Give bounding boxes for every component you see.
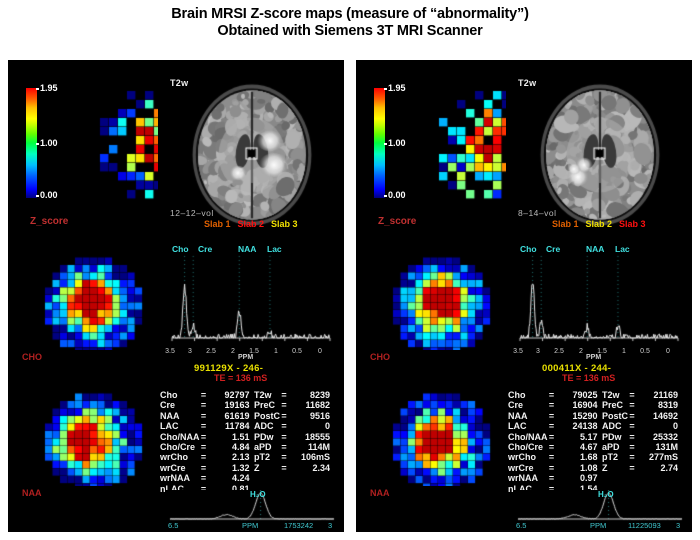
metric-value: 18555 xyxy=(288,432,330,442)
metric-key: wrCre xyxy=(160,463,200,473)
zscore-colorbar-right: 1.95 1.00 0.00 Z_score xyxy=(368,82,434,222)
peak-label-lac: Lac xyxy=(615,244,630,254)
peak-label-cre: Cre xyxy=(546,244,560,254)
metrics-row: Cho/Cre=4.67 xyxy=(508,442,598,452)
colorbar-tick-mid: 1.00 xyxy=(388,138,406,148)
metric-value: 11682 xyxy=(288,400,330,410)
cho-map-left xyxy=(30,250,150,350)
metrics-table-left-col2: T2w=8239PreC=11682PostC=9516ADC=0PDw=185… xyxy=(254,390,330,473)
study-te-left: TE = 136 mS xyxy=(214,373,267,383)
metrics-row: T2w=8239 xyxy=(254,390,330,400)
metric-key: T2w xyxy=(254,390,280,400)
metric-equals: = xyxy=(548,442,556,452)
metric-key: wrCre xyxy=(508,463,548,473)
metrics-row: LAC=11784 xyxy=(160,421,250,431)
metric-key: Cho xyxy=(508,390,548,400)
metrics-row: Z=2.74 xyxy=(602,463,678,473)
metric-equals: = xyxy=(628,452,636,462)
colorbar-tick-mid: 1.00 xyxy=(40,138,58,148)
t2w-label: T2w xyxy=(170,78,188,88)
metric-value: 1.51 xyxy=(208,432,250,442)
metric-key: Cho/NAA xyxy=(160,432,200,442)
metric-equals: = xyxy=(200,442,208,452)
title-line-2: Obtained with Siemens 3T MRI Scanner xyxy=(0,23,700,40)
mrsi-figure: Brain MRSI Z-score maps (measure of “abn… xyxy=(0,0,700,540)
water-tick-left: 6.5 xyxy=(516,521,526,530)
metric-key: Cre xyxy=(508,400,548,410)
metric-value: 16904 xyxy=(556,400,598,410)
metrics-row: wrCre=1.08 xyxy=(508,463,598,473)
slab-2-label: Slab 2 xyxy=(586,219,613,229)
metric-key: wrNAA xyxy=(160,473,200,483)
metric-equals: = xyxy=(548,421,556,431)
metric-value: 9516 xyxy=(288,411,330,421)
slab-legend-right: Slab 1Slab 2Slab 3 xyxy=(552,219,653,229)
metric-value: 14692 xyxy=(636,411,678,421)
metrics-row: pT2=106mS xyxy=(254,452,330,462)
water-integral-value: 1753242 xyxy=(284,521,313,530)
metric-equals: = xyxy=(200,452,208,462)
metric-value: 11784 xyxy=(208,421,250,431)
metric-key: pT2 xyxy=(254,452,280,462)
metric-value: 24138 xyxy=(556,421,598,431)
study-te-right: TE = 136 mS xyxy=(562,373,615,383)
t2w-volume-label: 8–14–vol xyxy=(518,208,557,218)
metrics-row: pT2=277mS xyxy=(602,452,678,462)
metric-equals: = xyxy=(200,411,208,421)
slab-1-label: Slab 1 xyxy=(552,219,579,229)
metric-key: NAA xyxy=(160,411,200,421)
metrics-row: PreC=8319 xyxy=(602,400,678,410)
metric-equals: = xyxy=(280,390,288,400)
metric-equals: = xyxy=(280,452,288,462)
cho-map-label: CHO xyxy=(22,352,42,362)
h2o-label: H₂O xyxy=(598,490,614,499)
metrics-row: NAA=15290 xyxy=(508,411,598,421)
metric-value: 0 xyxy=(636,421,678,431)
metric-key: LAC xyxy=(160,421,200,431)
water-integral-value: 11225093 xyxy=(628,521,661,530)
metric-key: Cho/Cre xyxy=(160,442,200,452)
metric-equals: = xyxy=(628,421,636,431)
case-panel-left: 1.95 1.00 0.00 Z_score T2w 12–12–vol Sla… xyxy=(8,60,344,532)
metrics-row: Z=2.34 xyxy=(254,463,330,473)
metric-equals: = xyxy=(280,432,288,442)
case-panel-right: 1.95 1.00 0.00 Z_score T2w 8–14–vol Slab… xyxy=(356,60,692,532)
metrics-row: PDw=18555 xyxy=(254,432,330,442)
metric-value: 1.32 xyxy=(208,463,250,473)
ppm-tick-5: 1 xyxy=(616,348,632,355)
metric-value: 15290 xyxy=(556,411,598,421)
metric-value: 61619 xyxy=(208,411,250,421)
metric-equals: = xyxy=(548,473,556,483)
ppm-tick-5: 1 xyxy=(268,348,284,355)
ppm-tick-6: 0.5 xyxy=(289,348,305,355)
metric-key: PreC xyxy=(602,400,628,410)
water-tick-left: 6.5 xyxy=(168,521,178,530)
ppm-tick-7: 0 xyxy=(660,348,676,355)
metrics-row: wrNAA=0.97 xyxy=(508,473,598,483)
peak-label-naa: NAA xyxy=(586,244,604,254)
ppm-tick-0: 3.5 xyxy=(162,348,178,355)
ppm-axis-name: PPM xyxy=(586,354,601,361)
metric-value: 1.08 xyxy=(556,463,598,473)
ppm-tick-1: 3 xyxy=(530,348,546,355)
metric-key: PDw xyxy=(254,432,280,442)
ppm-tick-2: 2.5 xyxy=(551,348,567,355)
spectrum-plot-left: Cho Cre NAA Lac 3.5 3 2.5 2 1.5 1 0.5 0 … xyxy=(166,242,338,360)
metric-equals: = xyxy=(548,432,556,442)
h2o-label: H₂O xyxy=(250,490,266,499)
metric-key: Cho/NAA xyxy=(508,432,548,442)
figure-title: Brain MRSI Z-score maps (measure of “abn… xyxy=(0,6,700,40)
metrics-row: T2w=21169 xyxy=(602,390,678,400)
slab-1-label: Slab 1 xyxy=(204,219,231,229)
metric-key: pT2 xyxy=(602,452,628,462)
metric-value: 2.34 xyxy=(288,463,330,473)
metric-key: wrNAA xyxy=(508,473,548,483)
metric-value: 2.13 xyxy=(208,452,250,462)
metric-value: 4.67 xyxy=(556,442,598,452)
metric-value: 106mS xyxy=(288,452,330,462)
metric-equals: = xyxy=(628,390,636,400)
metric-key: T2w xyxy=(602,390,628,400)
slab-3-label: Slab 3 xyxy=(619,219,646,229)
metric-equals: = xyxy=(280,411,288,421)
metric-equals: = xyxy=(200,432,208,442)
metric-value: 0.97 xyxy=(556,473,598,483)
metric-value: 1.68 xyxy=(556,452,598,462)
metrics-table-right-col2: T2w=21169PreC=8319PostC=14692ADC=0PDw=25… xyxy=(602,390,678,473)
colorbar-tick-min: 0.00 xyxy=(40,190,58,200)
cho-map-label: CHO xyxy=(370,352,390,362)
metrics-row: Cho=92797 xyxy=(160,390,250,400)
metric-value: 277mS xyxy=(636,452,678,462)
metric-equals: = xyxy=(280,442,288,452)
zscore-colorbar-left: 1.95 1.00 0.00 Z_score xyxy=(20,82,86,222)
metric-key: PreC xyxy=(254,400,280,410)
t2w-slice-left: T2w 12–12–vol xyxy=(158,68,338,243)
ppm-axis-name: PPM xyxy=(238,354,253,361)
metric-equals: = xyxy=(200,390,208,400)
ppm-tick-0: 3.5 xyxy=(510,348,526,355)
water-spectrum-left: H₂O 6.5 PPM 1753242 3 xyxy=(166,490,338,530)
metric-equals: = xyxy=(628,400,636,410)
metric-equals: = xyxy=(280,400,288,410)
ppm-tick-7: 0 xyxy=(312,348,328,355)
metrics-row: Cho/NAA=5.17 xyxy=(508,432,598,442)
metric-value: 131M xyxy=(636,442,678,452)
zscore-caption: Z_score xyxy=(30,216,68,227)
metric-value: 25332 xyxy=(636,432,678,442)
metric-key: aPD xyxy=(254,442,280,452)
metric-key: PDw xyxy=(602,432,628,442)
metrics-row: PDw=25332 xyxy=(602,432,678,442)
water-axis-name: PPM xyxy=(242,521,258,530)
metrics-row: NAA=61619 xyxy=(160,411,250,421)
ppm-tick-1: 3 xyxy=(182,348,198,355)
metric-value: 4.24 xyxy=(208,473,250,483)
water-axis-name: PPM xyxy=(590,521,606,530)
naa-map-right xyxy=(378,386,498,486)
slab-legend-left: Slab 1Slab 2Slab 3 xyxy=(204,219,305,229)
metrics-row: Cre=16904 xyxy=(508,400,598,410)
metric-equals: = xyxy=(280,463,288,473)
metric-key: NAA xyxy=(508,411,548,421)
metric-key: Z xyxy=(254,463,280,473)
metric-key: LAC xyxy=(508,421,548,431)
naa-map-label: NAA xyxy=(370,488,390,498)
title-line-1: Brain MRSI Z-score maps (measure of “abn… xyxy=(0,6,700,23)
peak-label-cho: Cho xyxy=(520,244,537,254)
slab-3-label: Slab 3 xyxy=(271,219,298,229)
naa-map-left xyxy=(30,386,150,486)
metric-key: wrCho xyxy=(508,452,548,462)
slab-2-label: Slab 2 xyxy=(238,219,265,229)
metrics-table: T2w=8239PreC=11682PostC=9516ADC=0PDw=185… xyxy=(254,390,330,473)
metrics-row: wrCre=1.32 xyxy=(160,463,250,473)
naa-map-label: NAA xyxy=(22,488,42,498)
metric-key: PostC xyxy=(254,411,280,421)
metrics-row: wrCho=1.68 xyxy=(508,452,598,462)
metrics-row: Cre=19163 xyxy=(160,400,250,410)
metric-value: 8239 xyxy=(288,390,330,400)
colorbar-tick-min: 0.00 xyxy=(388,190,406,200)
metrics-row: ADC=0 xyxy=(254,421,330,431)
metrics-row: PreC=11682 xyxy=(254,400,330,410)
metric-value: 5.17 xyxy=(556,432,598,442)
metric-key: ADC xyxy=(602,421,628,431)
colorbar-tick-max: 1.95 xyxy=(40,83,58,93)
ppm-tick-6: 0.5 xyxy=(637,348,653,355)
metric-equals: = xyxy=(548,400,556,410)
metric-key: Cho xyxy=(160,390,200,400)
peak-label-naa: NAA xyxy=(238,244,256,254)
metric-key: Cre xyxy=(160,400,200,410)
metric-value: 2.74 xyxy=(636,463,678,473)
peak-label-lac: Lac xyxy=(267,244,282,254)
metric-key: ADC xyxy=(254,421,280,431)
metrics-table-right-col1: Cho=79025Cre=16904NAA=15290LAC=24138Cho/… xyxy=(508,390,598,494)
metric-key: aPD xyxy=(602,442,628,452)
metric-value: 79025 xyxy=(556,390,598,400)
spectrum-plot-right: Cho Cre NAA Lac 3.5 3 2.5 2 1.5 1 0.5 0 … xyxy=(514,242,686,360)
metrics-row: LAC=24138 xyxy=(508,421,598,431)
t2w-slice-right: T2w 8–14–vol xyxy=(506,68,686,243)
metric-equals: = xyxy=(628,411,636,421)
metrics-row: Cho/NAA=1.51 xyxy=(160,432,250,442)
metrics-row: PostC=9516 xyxy=(254,411,330,421)
metrics-table: Cho=79025Cre=16904NAA=15290LAC=24138Cho/… xyxy=(508,390,598,494)
metrics-table-left-col1: Cho=92797Cre=19163NAA=61619LAC=11784Cho/… xyxy=(160,390,250,494)
metric-value: 8319 xyxy=(636,400,678,410)
metric-key: Z xyxy=(602,463,628,473)
ppm-tick-2: 2.5 xyxy=(203,348,219,355)
metric-equals: = xyxy=(628,463,636,473)
metric-equals: = xyxy=(280,421,288,431)
metrics-table: T2w=21169PreC=8319PostC=14692ADC=0PDw=25… xyxy=(602,390,678,473)
metric-equals: = xyxy=(628,442,636,452)
metric-equals: = xyxy=(548,463,556,473)
metrics-row: Cho/Cre=4.84 xyxy=(160,442,250,452)
metrics-table: Cho=92797Cre=19163NAA=61619LAC=11784Cho/… xyxy=(160,390,250,494)
water-spectrum-right: H₂O 6.5 PPM 11225093 3 xyxy=(514,490,686,530)
metric-equals: = xyxy=(200,400,208,410)
water-tick-right: 3 xyxy=(676,521,680,530)
metric-equals: = xyxy=(200,473,208,483)
metric-key: PostC xyxy=(602,411,628,421)
metric-value: 19163 xyxy=(208,400,250,410)
metric-value: 4.84 xyxy=(208,442,250,452)
cho-map-right xyxy=(378,250,498,350)
peak-label-cho: Cho xyxy=(172,244,189,254)
metrics-row: aPD=131M xyxy=(602,442,678,452)
metrics-row: wrNAA=4.24 xyxy=(160,473,250,483)
metrics-row: wrCho=2.13 xyxy=(160,452,250,462)
metric-equals: = xyxy=(548,411,556,421)
metric-equals: = xyxy=(628,432,636,442)
metrics-row: aPD=114M xyxy=(254,442,330,452)
metrics-row: ADC=0 xyxy=(602,421,678,431)
metric-key: Cho/Cre xyxy=(508,442,548,452)
water-tick-right: 3 xyxy=(328,521,332,530)
metric-value: 0 xyxy=(288,421,330,431)
t2w-volume-label: 12–12–vol xyxy=(170,208,214,218)
t2w-label: T2w xyxy=(518,78,536,88)
metric-key: wrCho xyxy=(160,452,200,462)
metric-equals: = xyxy=(548,390,556,400)
metric-equals: = xyxy=(200,421,208,431)
colorbar-tick-max: 1.95 xyxy=(388,83,406,93)
metric-equals: = xyxy=(200,463,208,473)
metric-value: 114M xyxy=(288,442,330,452)
metric-value: 92797 xyxy=(208,390,250,400)
metrics-row: Cho=79025 xyxy=(508,390,598,400)
metric-value: 21169 xyxy=(636,390,678,400)
peak-label-cre: Cre xyxy=(198,244,212,254)
metric-equals: = xyxy=(548,452,556,462)
metrics-row: PostC=14692 xyxy=(602,411,678,421)
zscore-caption: Z_score xyxy=(378,216,416,227)
